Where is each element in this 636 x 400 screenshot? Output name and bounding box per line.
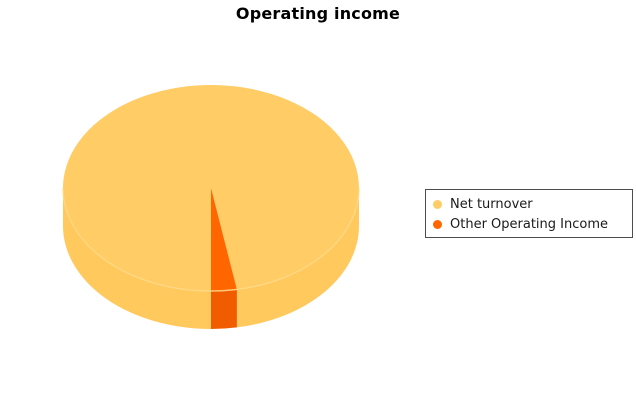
- pie-plot-area: [0, 55, 420, 365]
- pie-slice-net-turnover-top: [63, 85, 359, 291]
- legend-swatch-icon: [433, 200, 442, 209]
- legend-item-net-turnover[interactable]: Net turnover: [426, 194, 632, 214]
- pie-slice-other-income-side: [211, 289, 237, 329]
- legend-item-other-operating-income[interactable]: Other Operating Income: [426, 214, 632, 234]
- pie-chart-figure: Operating income: [0, 0, 636, 400]
- legend-swatch-icon: [433, 220, 442, 229]
- legend-item-label: Net turnover: [450, 197, 533, 212]
- chart-title: Operating income: [0, 4, 636, 23]
- chart-legend: Net turnover Other Operating Income: [425, 189, 633, 238]
- pie-3d-svg: [0, 55, 420, 365]
- legend-item-label: Other Operating Income: [450, 217, 608, 232]
